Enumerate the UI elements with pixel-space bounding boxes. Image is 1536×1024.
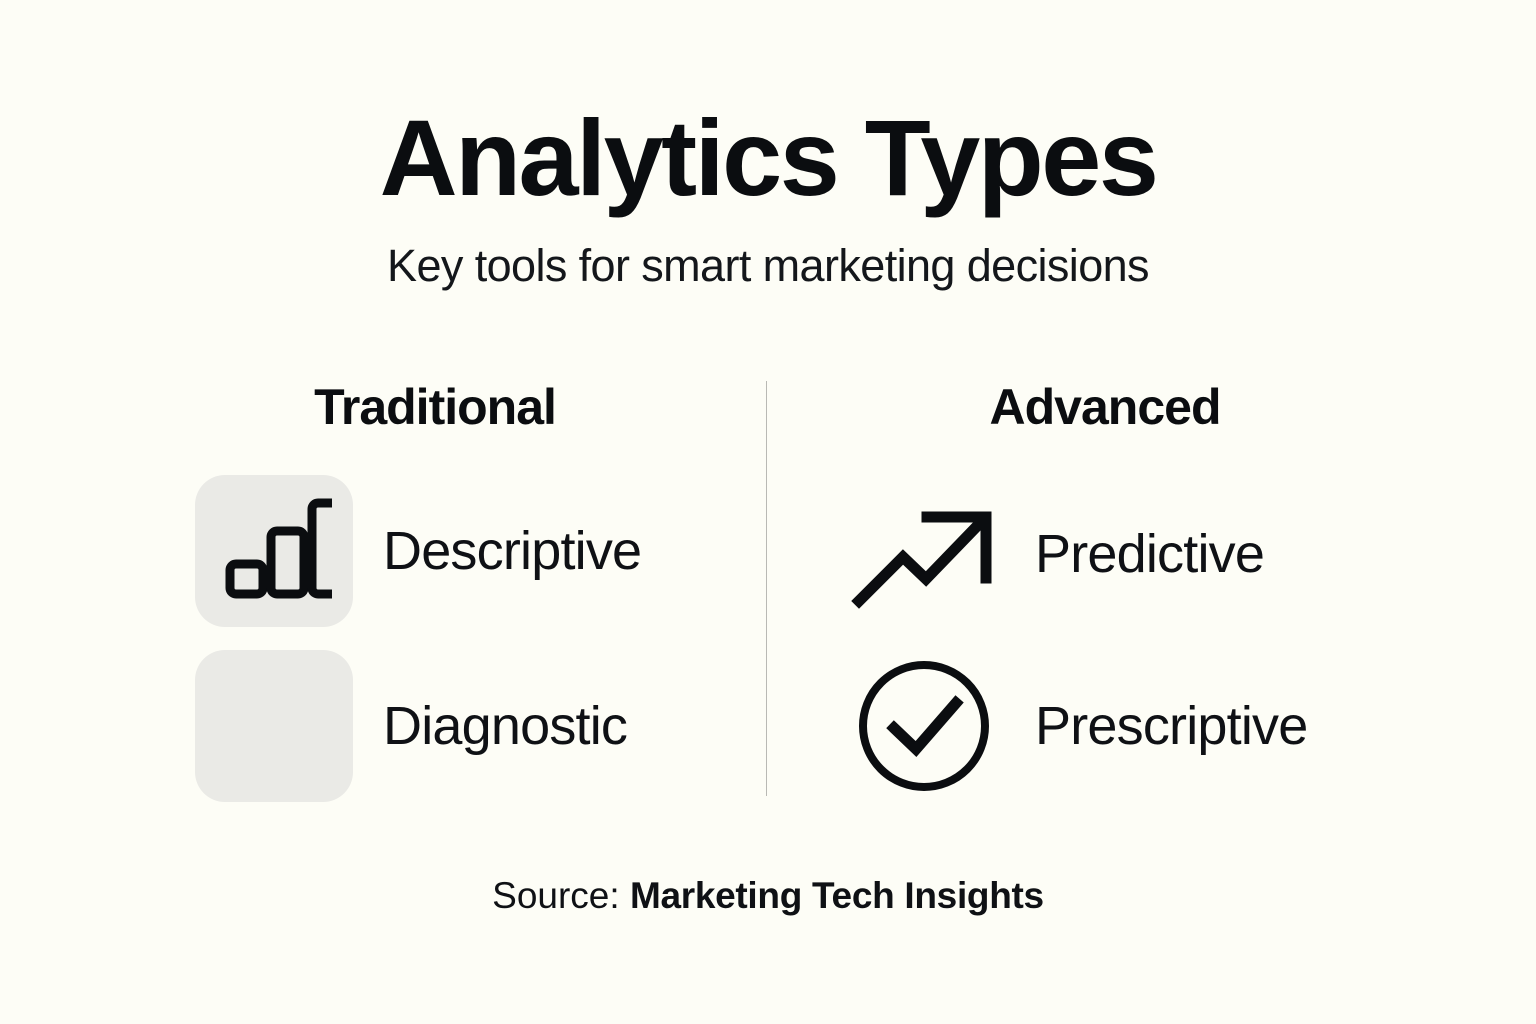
list-item-diagnostic[interactable]: Diagnostic <box>195 650 627 802</box>
infographic-canvas: Analytics Types Key tools for smart mark… <box>0 0 1536 1024</box>
source-value: Marketing Tech Insights <box>630 875 1044 916</box>
trending-up-arrow-icon <box>849 495 999 613</box>
column-divider <box>766 381 767 796</box>
list-item-label: Diagnostic <box>383 699 627 753</box>
column-header-traditional: Traditional <box>195 382 675 432</box>
bar-chart-icon <box>216 493 332 609</box>
diagnostic-icon-tile <box>195 650 353 802</box>
source-label: Source: <box>492 875 620 916</box>
source-attribution: Source: Marketing Tech Insights <box>0 877 1536 914</box>
list-item-descriptive[interactable]: Descriptive <box>195 475 641 627</box>
page-subtitle: Key tools for smart marketing decisions <box>0 243 1536 288</box>
predictive-icon-slot <box>845 478 1003 630</box>
list-item-prescriptive[interactable]: Prescriptive <box>845 650 1307 802</box>
list-item-label: Prescriptive <box>1035 699 1307 753</box>
list-item-label: Predictive <box>1035 527 1264 581</box>
prescriptive-icon-slot <box>845 650 1003 802</box>
list-item-label: Descriptive <box>383 524 641 578</box>
list-item-predictive[interactable]: Predictive <box>845 478 1264 630</box>
column-header-advanced: Advanced <box>865 382 1345 432</box>
page-title: Analytics Types <box>0 104 1536 212</box>
descriptive-icon-tile <box>195 475 353 627</box>
check-circle-icon <box>854 656 994 796</box>
